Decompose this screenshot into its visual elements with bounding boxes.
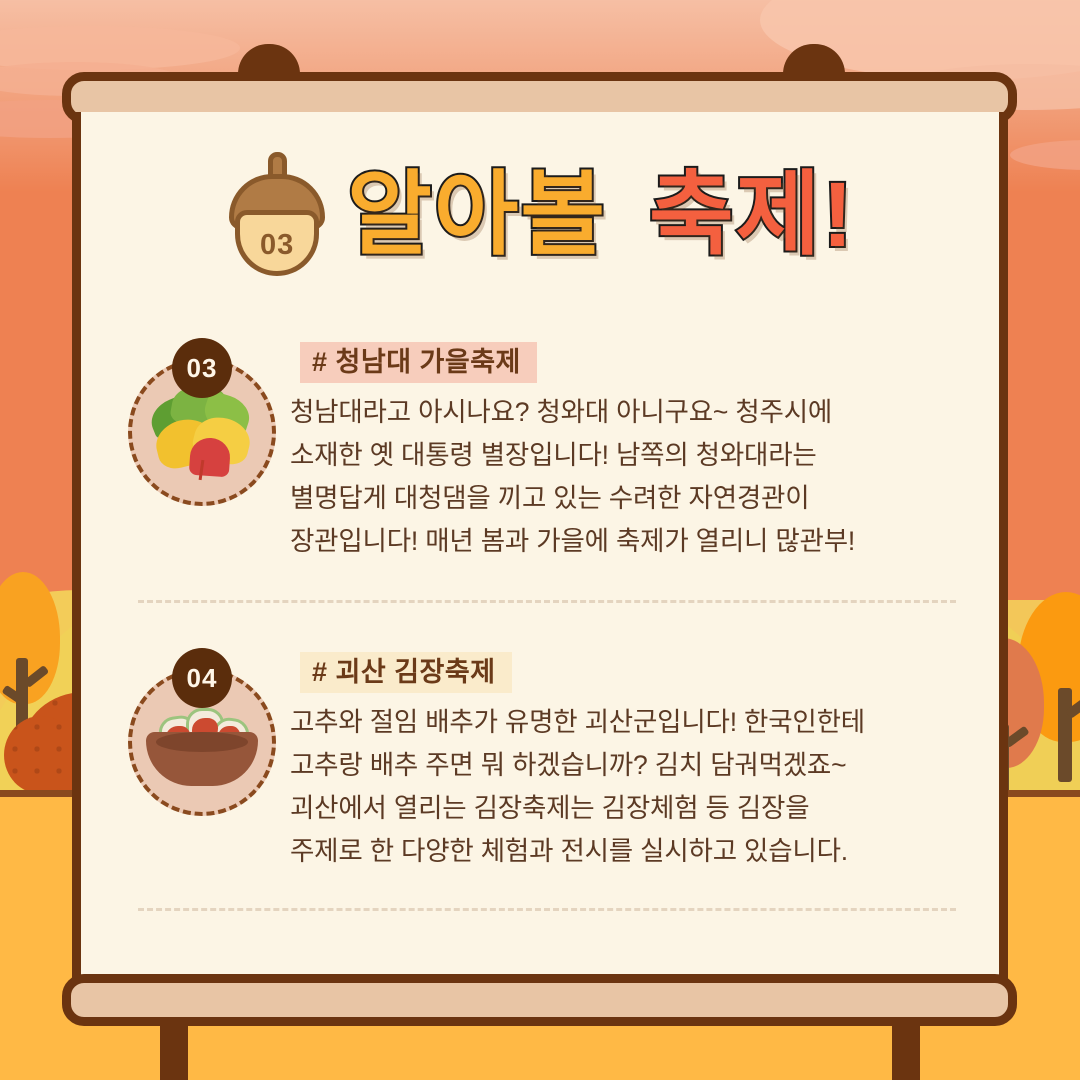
title-text-accent: 축제!: [649, 169, 855, 261]
festival-section-03: 03 # 청남대 가을축제 청남대라고 아시나요? 청와대 아니구요~ 청주시에…: [110, 340, 990, 563]
acorn-number: 03: [260, 227, 294, 260]
board-leg: [160, 1020, 188, 1080]
body-line: 별명답게 대청댐을 끼고 있는 수려한 자연경관이: [290, 477, 990, 520]
kimchi-illustration: [146, 698, 258, 786]
section-divider: [138, 600, 956, 603]
section-heading: # 청남대 가을축제: [300, 342, 537, 383]
poster-canvas: 03 알아볼 축제! 03 # 청남대 가을축제 청남대: [0, 0, 1080, 1080]
section-content: # 청남대 가을축제 청남대라고 아시나요? 청와대 아니구요~ 청주시에 소재…: [290, 340, 990, 563]
body-line: 소재한 옛 대통령 별장입니다! 남쪽의 청와대라는: [290, 434, 990, 477]
body-line: 장관입니다! 매년 봄과 가을에 축제가 열리니 많관부!: [290, 520, 990, 563]
acorn-body: 03: [235, 210, 319, 276]
body-line: 청남대라고 아시나요? 청와대 아니구요~ 청주시에: [290, 391, 990, 434]
bowl-inner: [156, 732, 248, 752]
section-divider: [138, 908, 956, 911]
board-bottom-bar: [62, 974, 1017, 1026]
section-heading: # 괴산 김장축제: [300, 652, 512, 693]
body-line: 주제로 한 다양한 체험과 전시를 실시하고 있습니다.: [290, 830, 990, 873]
leaves-illustration: [148, 384, 256, 480]
acorn-icon: 03: [225, 152, 329, 278]
page-title: 03 알아볼 축제!: [0, 140, 1080, 290]
board-leg: [892, 1020, 920, 1080]
section-content: # 괴산 김장축제 고추와 절임 배추가 유명한 괴산군입니다! 한국인한테 고…: [290, 650, 990, 873]
body-line: 고추와 절임 배추가 유명한 괴산군입니다! 한국인한테: [290, 701, 990, 744]
title-text-primary: 알아볼: [347, 169, 607, 261]
festival-section-04: 04 # 괴산 김장축제 고추와 절임 배추가 유명한 괴산군입니다! 한국인한…: [110, 650, 990, 873]
section-number-badge: 04: [172, 648, 232, 708]
section-number-badge: 03: [172, 338, 232, 398]
body-line: 고추랑 배추 주면 뭐 하겠습니까? 김치 담궈먹겠죠~: [290, 744, 990, 787]
body-line: 괴산에서 열리는 김장축제는 김장체험 등 김장을: [290, 787, 990, 830]
